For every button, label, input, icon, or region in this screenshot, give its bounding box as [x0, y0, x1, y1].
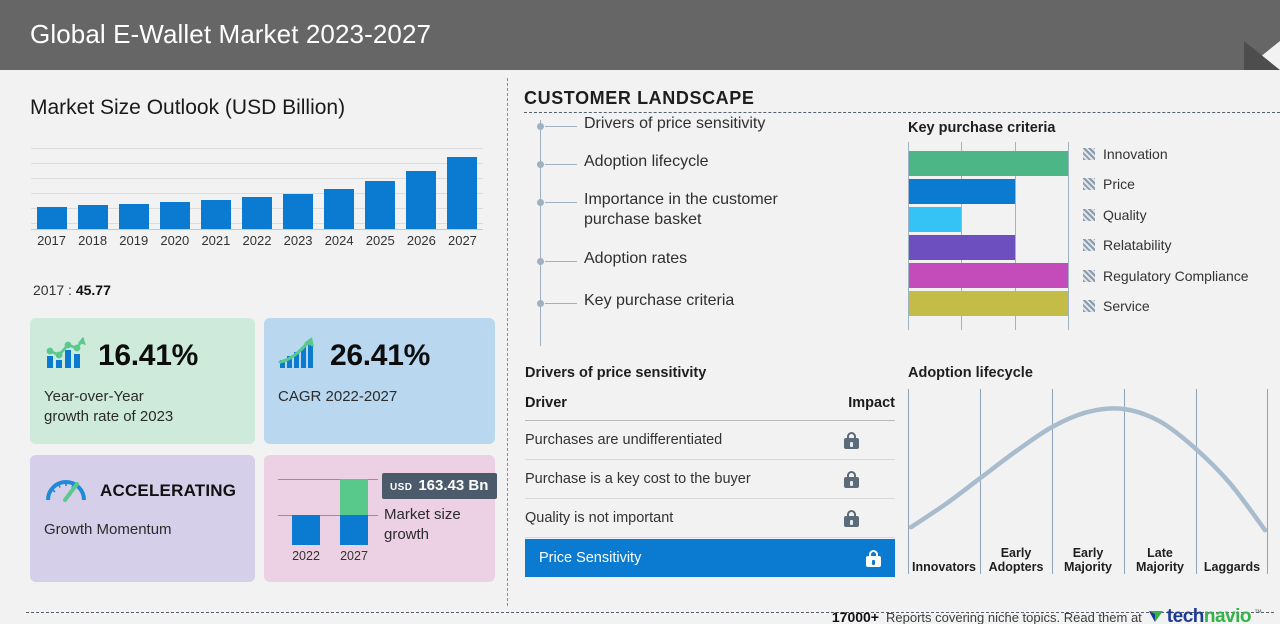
tree-item-label: Importance in the customer purchase bask… — [584, 190, 884, 231]
market-size-growth-mini-chart: 20222027 — [278, 471, 378, 563]
technavio-wordmark: technavio — [1167, 606, 1251, 624]
adoption-lifecycle-plot: InnovatorsEarly AdoptersEarly MajorityLa… — [908, 389, 1268, 574]
badge-value: 163.43 Bn — [418, 477, 488, 494]
market-size-growth-text: Market size growth — [384, 505, 461, 545]
tree-item-label: Key purchase criteria — [584, 291, 884, 311]
key-purchase-criteria-plot — [908, 142, 1068, 330]
hatch-swatch-icon — [1083, 209, 1095, 221]
hatch-swatch-icon — [1083, 300, 1095, 312]
bar — [201, 200, 231, 229]
hatch-swatch-icon — [1083, 148, 1095, 160]
kpc-legend-label: Regulatory Compliance — [1103, 268, 1249, 284]
tree-connector — [545, 202, 577, 203]
kpc-legend-label: Price — [1103, 176, 1135, 192]
market-size-title: Market Size Outlook (USD Billion) — [30, 96, 345, 120]
hatch-swatch-icon — [1083, 178, 1095, 190]
bar-x-label: 2026 — [401, 233, 441, 248]
driver-row[interactable]: Quality is not important — [525, 499, 895, 538]
column-header-impact: Impact — [848, 395, 895, 411]
speedometer-icon — [44, 473, 88, 508]
driver-row[interactable]: Purchases are undifferentiated — [525, 421, 895, 460]
kpi-sub-cagr: CAGR 2022-2027 — [264, 375, 495, 407]
bar-x-label: 2024 — [319, 233, 359, 248]
page-title: Global E-Wallet Market 2023-2027 — [30, 19, 431, 50]
report-count: 17000+ — [832, 609, 879, 624]
bar — [78, 205, 108, 229]
driver-name: Price Sensitivity — [539, 550, 641, 566]
tree-connector — [545, 164, 577, 165]
mini-bar-base — [292, 515, 320, 545]
adoption-stage-label: Early Adopters — [980, 546, 1052, 574]
technavio-logo[interactable]: technavio ™ — [1149, 606, 1262, 624]
tree-item-label: Adoption rates — [584, 249, 884, 269]
infographic-page: Global E-Wallet Market 2023-2027 Market … — [0, 0, 1280, 624]
bar-x-label: 2019 — [114, 233, 154, 248]
growth-momentum-sub: Growth Momentum — [30, 508, 255, 540]
key-purchase-criteria-chart: Key purchase criteria InnovationPriceQua… — [905, 120, 1280, 350]
column-header-driver: Driver — [525, 395, 567, 411]
bar — [365, 181, 395, 229]
driver-row-highlighted[interactable]: Price Sensitivity — [525, 539, 895, 577]
bar — [324, 189, 354, 229]
bar — [447, 157, 477, 229]
market-size-bar-chart — [31, 148, 483, 230]
driver-row[interactable]: Purchase is a key cost to the buyer — [525, 460, 895, 499]
logo-part1: tech — [1167, 606, 1204, 624]
kpc-legend-label: Quality — [1103, 207, 1147, 223]
bar-x-label: 2022 — [237, 233, 277, 248]
tree-item-label: Drivers of price sensitivity — [584, 114, 884, 134]
lock-icon — [844, 471, 859, 488]
badge-unit: USD — [390, 482, 412, 493]
bar — [119, 204, 149, 229]
kpc-legend-item: Relatability — [1083, 237, 1171, 253]
driver-name: Purchases are undifferentiated — [525, 432, 722, 448]
kpc-bar-quality — [909, 207, 961, 232]
kpi-card-yoy[interactable]: 16.41% Year-over-Year growth rate of 202… — [30, 318, 255, 444]
market-size-growth-badge: USD 163.43 Bn — [382, 473, 497, 499]
trademark-symbol: ™ — [1254, 608, 1262, 617]
drivers-table: Drivers of price sensitivity Driver Impa… — [525, 365, 895, 577]
kpc-legend-item: Innovation — [1083, 146, 1168, 162]
bar — [406, 171, 436, 230]
tree-dot-icon — [537, 199, 544, 206]
drivers-table-body: Purchases are undifferentiatedPurchase i… — [525, 421, 895, 577]
tree-item-label: Adoption lifecycle — [584, 152, 884, 172]
kpi-row: 16.41% — [30, 318, 255, 375]
footer-text-line: 17000+ Reports covering niche topics. Re… — [832, 606, 1262, 624]
bar-chart-x-labels: 2017201820192020202120222023202420252026… — [31, 233, 483, 253]
gridline — [31, 163, 483, 164]
mini-bar-year: 2027 — [334, 549, 374, 563]
adoption-stage-label: Late Majority — [1124, 546, 1196, 574]
bar-x-label: 2025 — [360, 233, 400, 248]
lock-icon — [844, 510, 859, 527]
gridline — [31, 148, 483, 149]
market-size-annotation: 2017 : 45.77 — [33, 282, 111, 298]
kpi-row: ACCELERATING — [30, 455, 255, 508]
kpc-legend-label: Relatability — [1103, 237, 1171, 253]
mini-bar-year: 2022 — [286, 549, 326, 563]
kpc-bar-regulatory-compliance — [909, 263, 1068, 288]
kpc-bar-price — [909, 179, 1015, 204]
annotation-value: 45.77 — [76, 282, 111, 298]
technavio-arrow-icon — [1149, 608, 1164, 624]
kpi-value-yoy: 16.41% — [98, 339, 198, 373]
key-purchase-criteria-title: Key purchase criteria — [908, 120, 1056, 136]
drivers-table-header: Driver Impact — [525, 395, 895, 421]
kpc-bar-relatability — [909, 235, 1015, 260]
customer-landscape-underline — [524, 112, 1280, 113]
footer-text: Reports covering niche topics. Read them… — [886, 610, 1142, 624]
hatch-swatch-icon — [1083, 270, 1095, 282]
kpc-legend-item: Regulatory Compliance — [1083, 268, 1249, 284]
bar-x-label: 2020 — [155, 233, 195, 248]
kpc-legend-label: Service — [1103, 298, 1150, 314]
mini-bar — [292, 515, 320, 545]
bar-x-label: 2018 — [73, 233, 113, 248]
bar-line-growth-icon — [44, 336, 86, 375]
kpi-card-cagr[interactable]: 26.41% CAGR 2022-2027 — [264, 318, 495, 444]
tree-connector — [545, 126, 577, 127]
kpc-legend-label: Innovation — [1103, 146, 1168, 162]
bar-x-label: 2027 — [442, 233, 482, 248]
header-bar: Global E-Wallet Market 2023-2027 — [0, 0, 1280, 70]
bar-x-label: 2017 — [32, 233, 72, 248]
kpi-sub-yoy: Year-over-Year growth rate of 2023 — [30, 375, 255, 427]
kpc-gridline — [1068, 142, 1069, 330]
kpc-bar-innovation — [909, 151, 1068, 176]
adoption-stage-label: Innovators — [908, 560, 980, 574]
bar-arrow-growth-icon — [278, 336, 318, 375]
mini-bar — [340, 479, 368, 545]
lock-icon — [844, 432, 859, 449]
kpi-card-market-size-growth[interactable]: 20222027 USD 163.43 Bn Market size growt… — [264, 455, 495, 582]
drivers-table-title: Drivers of price sensitivity — [525, 365, 895, 381]
adoption-lifecycle-title: Adoption lifecycle — [908, 365, 1033, 381]
kpc-legend-item: Service — [1083, 298, 1150, 314]
driver-name: Purchase is a key cost to the buyer — [525, 471, 751, 487]
adoption-lifecycle-chart: Adoption lifecycle InnovatorsEarly Adopt… — [905, 365, 1280, 595]
kpc-legend-item: Quality — [1083, 207, 1147, 223]
tree-connector — [545, 261, 577, 262]
kpi-row: 26.41% — [264, 318, 495, 375]
customer-landscape-tree: Drivers of price sensitivityAdoption lif… — [537, 118, 897, 350]
bar-x-label: 2023 — [278, 233, 318, 248]
left-panel: Market Size Outlook (USD Billion) 201720… — [0, 70, 507, 612]
kpi-value-cagr: 26.41% — [330, 339, 430, 373]
kpc-legend-item: Price — [1083, 176, 1135, 192]
growth-momentum-label: ACCELERATING — [100, 481, 236, 501]
right-panel: CUSTOMER LANDSCAPE Drivers of price sens… — [507, 70, 1280, 612]
adoption-stage-label: Laggards — [1196, 560, 1268, 574]
bar — [160, 202, 190, 229]
mini-bar-base — [340, 515, 368, 545]
tree-spine — [540, 120, 541, 346]
adoption-stage-label: Early Majority — [1052, 546, 1124, 574]
tree-connector — [545, 303, 577, 304]
tree-dot-icon — [537, 300, 544, 307]
bar-chart-axis — [31, 229, 483, 230]
tree-dot-icon — [537, 123, 544, 130]
bar — [283, 194, 313, 229]
tree-dot-icon — [537, 161, 544, 168]
logo-part2: navio — [1204, 606, 1251, 624]
customer-landscape-title: CUSTOMER LANDSCAPE — [524, 88, 754, 109]
footer: 17000+ Reports covering niche topics. Re… — [0, 612, 1280, 624]
hatch-swatch-icon — [1083, 239, 1095, 251]
annotation-year: 2017 : — [33, 282, 72, 298]
bar-x-label: 2021 — [196, 233, 236, 248]
mini-bar-growth — [340, 479, 368, 515]
kpc-bar-service — [909, 291, 1068, 316]
driver-name: Quality is not important — [525, 510, 673, 526]
bar — [242, 197, 272, 229]
bar — [37, 207, 67, 229]
lock-icon — [866, 550, 881, 567]
tree-dot-icon — [537, 258, 544, 265]
kpi-card-growth-momentum[interactable]: ACCELERATING Growth Momentum — [30, 455, 255, 582]
